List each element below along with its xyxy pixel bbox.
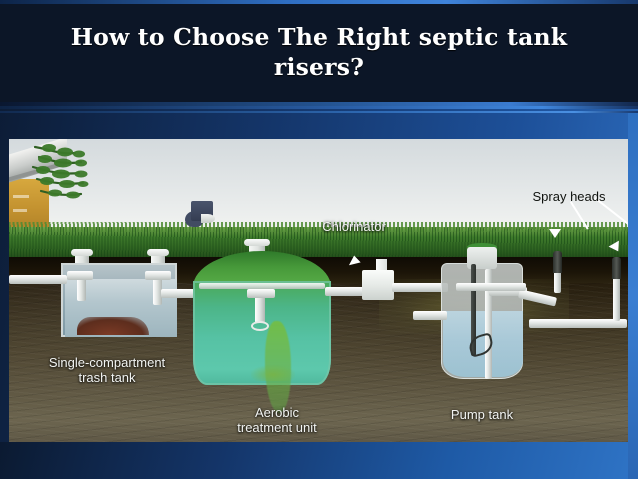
house-inlet-pipe (9, 275, 67, 284)
slide-bottom-band (0, 442, 638, 479)
trash-tank-outlet-top (145, 271, 171, 280)
spray-head-2 (612, 257, 621, 279)
trash-tank-sludge (77, 317, 149, 335)
aerobic-drop-tee (247, 289, 275, 298)
spray-head-1 (553, 251, 562, 273)
pump-tank-body (441, 263, 523, 379)
header-top-rule (0, 0, 638, 4)
house-window (13, 195, 29, 198)
riser-cap-inlet (71, 249, 93, 256)
aerobic-drop-ring (251, 321, 269, 331)
tree-icon (31, 141, 117, 209)
accent-strip-upper (0, 106, 638, 109)
distribution-lateral (456, 283, 526, 291)
slide-left-margin (0, 113, 9, 479)
chlorinator-outlet-pipe (392, 283, 448, 292)
aerobic-unit-label: Aerobic treatment unit (207, 405, 347, 435)
pump-tank-inlet-pipe (413, 311, 447, 320)
distribution-pipe-main (529, 319, 627, 328)
blower-outlet (201, 214, 215, 223)
septic-system-diagram: Spray heads Chlorinator Single-compartme… (9, 139, 628, 442)
spray-heads-arrow-1 (549, 229, 561, 238)
slide-canvas: How to Choose The Right septic tank rise… (0, 0, 638, 479)
aeration-diffuser-cloud (251, 365, 295, 381)
slide-header: How to Choose The Right septic tank rise… (0, 0, 638, 106)
air-blower (185, 201, 215, 227)
accent-strip-lower (0, 111, 638, 113)
chlorinator (362, 270, 394, 300)
riser-cap-aerobic (244, 239, 270, 246)
pump-tank (441, 257, 523, 385)
page-title: How to Choose The Right septic tank rise… (30, 22, 608, 82)
trash-tank-inlet-baffle (67, 271, 93, 280)
spray-heads-label: Spray heads (514, 189, 624, 204)
slide-right-margin (628, 113, 638, 479)
riser-cap-outlet (147, 249, 169, 256)
pump-tank-label: Pump tank (427, 407, 537, 422)
trash-tank-label: Single-compartment trash tank (27, 355, 187, 385)
chlorinator-label: Chlorinator (304, 219, 404, 234)
house-window (13, 209, 27, 212)
